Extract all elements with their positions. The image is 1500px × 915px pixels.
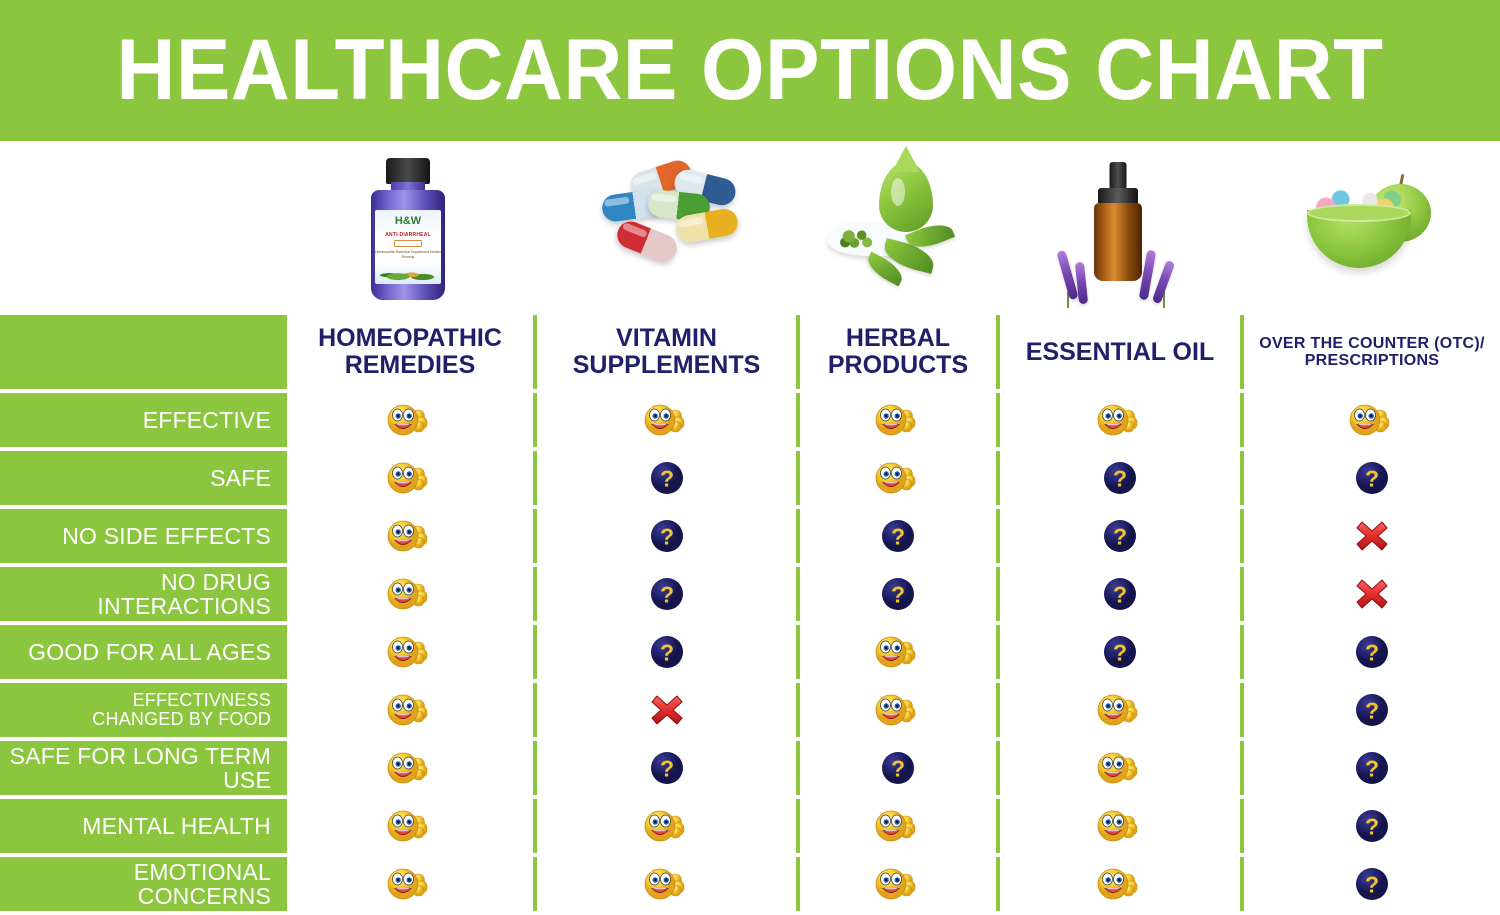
cell-over-the-counter-otc-prescriptions-question-mark[interactable]: ?	[1240, 799, 1500, 853]
svg-text:?: ?	[1365, 698, 1379, 724]
header-line-2: SUPPLEMENTS	[573, 352, 761, 379]
cell-homeopathic-remedies-smiley-thumbs-up[interactable]	[283, 567, 533, 621]
row-label-line-1: SAFE	[210, 466, 271, 490]
row-label-effectivness-changed-by-food[interactable]: EFFECTIVNESSCHANGED BY FOOD	[0, 683, 283, 737]
row-label-text: GOOD FOR ALL AGES	[28, 640, 271, 664]
row-cells: ? ? ?	[283, 741, 1500, 795]
smiley-thumbs-up-icon	[874, 809, 922, 843]
question-mark-icon: ?	[650, 635, 684, 669]
row-cells: ? ? ?	[283, 509, 1500, 563]
red-x-icon	[650, 694, 684, 726]
cell-vitamin-supplements-question-mark[interactable]: ?	[533, 509, 796, 563]
smiley-thumbs-up-icon	[874, 693, 922, 727]
svg-text:?: ?	[659, 582, 673, 608]
cell-homeopathic-remedies-smiley-thumbs-up[interactable]	[283, 741, 533, 795]
question-mark-icon: ?	[650, 461, 684, 495]
smiley-thumbs-up-icon	[1096, 867, 1144, 901]
svg-text:?: ?	[659, 640, 673, 666]
row-label-emotional-concerns[interactable]: EMOTIONAL CONCERNS	[0, 857, 283, 911]
question-mark-icon: ?	[650, 751, 684, 785]
bottle-label: H&W ANTI-DIARRHEAL Homeopathic Botanical…	[375, 210, 441, 284]
row-label-line-1: GOOD FOR ALL AGES	[28, 640, 271, 664]
question-mark-icon: ?	[881, 519, 915, 553]
cell-essential-oil-smiley-thumbs-up[interactable]	[996, 799, 1240, 853]
cell-vitamin-supplements-question-mark[interactable]: ?	[533, 741, 796, 795]
row-label-mental-health[interactable]: MENTAL HEALTH	[0, 799, 283, 853]
column-header-otc[interactable]: OVER THE COUNTER (OTC)/ PRESCRIPTIONS	[1240, 315, 1500, 389]
bottle-cap-icon	[386, 158, 430, 184]
cell-homeopathic-remedies-smiley-thumbs-up[interactable]	[283, 683, 533, 737]
svg-text:?: ?	[891, 524, 905, 550]
row-label-text: EFFECTIVNESSCHANGED BY FOOD	[92, 691, 271, 729]
cell-vitamin-supplements-red-x[interactable]	[533, 683, 796, 737]
question-mark-icon: ?	[1355, 635, 1389, 669]
cell-vitamin-supplements-question-mark[interactable]: ?	[533, 567, 796, 621]
cell-over-the-counter-otc-prescriptions-question-mark[interactable]: ?	[1240, 451, 1500, 505]
table-row: EFFECTIVNESSCHANGED BY FOOD	[0, 683, 1500, 737]
header-line-1: HERBAL	[828, 325, 968, 352]
row-cells: ?	[283, 683, 1500, 737]
product-image-herbal	[796, 141, 996, 315]
row-label-text: SAFE FOR LONG TERM USE	[0, 744, 271, 793]
cell-homeopathic-remedies-smiley-thumbs-up[interactable]	[283, 509, 533, 563]
bottle-herb-graphic-icon	[375, 264, 441, 282]
cell-vitamin-supplements-question-mark[interactable]: ?	[533, 625, 796, 679]
amber-bottle-icon	[1094, 203, 1142, 281]
cell-essential-oil-question-mark[interactable]: ?	[996, 567, 1240, 621]
smiley-thumbs-up-icon	[874, 867, 922, 901]
cell-homeopathic-remedies-smiley-thumbs-up[interactable]	[283, 799, 533, 853]
cell-herbal-products-smiley-thumbs-up[interactable]	[796, 625, 996, 679]
row-label-line-1: NO SIDE EFFECTS	[62, 524, 271, 548]
smiley-thumbs-up-icon	[874, 461, 922, 495]
question-mark-icon: ?	[1355, 867, 1389, 901]
page-title: HEALTHCARE OPTIONS CHART	[116, 21, 1383, 120]
product-image-essential-oil	[996, 141, 1240, 315]
cell-essential-oil-smiley-thumbs-up[interactable]	[996, 741, 1240, 795]
svg-text:?: ?	[1365, 466, 1379, 492]
capsule-group-icon	[590, 148, 740, 308]
cell-vitamin-supplements-smiley-thumbs-up[interactable]	[533, 393, 796, 447]
cell-over-the-counter-otc-prescriptions-red-x[interactable]	[1240, 509, 1500, 563]
svg-text:?: ?	[1113, 582, 1127, 608]
row-label-effective[interactable]: EFFECTIVE	[0, 393, 283, 447]
column-header-homeopathic[interactable]: HOMEOPATHIC REMEDIES	[283, 315, 533, 389]
cell-essential-oil-smiley-thumbs-up[interactable]	[996, 857, 1240, 911]
cell-essential-oil-question-mark[interactable]: ?	[996, 625, 1240, 679]
row-label-text: MENTAL HEALTH	[82, 814, 271, 838]
cell-herbal-products-question-mark[interactable]: ?	[796, 509, 996, 563]
cell-over-the-counter-otc-prescriptions-question-mark[interactable]: ?	[1240, 857, 1500, 911]
bowl-rim-icon	[1307, 204, 1411, 222]
cell-essential-oil-question-mark[interactable]: ?	[996, 509, 1240, 563]
capsule-red-icon	[613, 217, 681, 265]
row-cells	[283, 393, 1500, 447]
cell-vitamin-supplements-smiley-thumbs-up[interactable]	[533, 857, 796, 911]
row-label-line-1: EFFECTIVNESS	[92, 691, 271, 710]
table-row: EMOTIONAL CONCERNS	[0, 857, 1500, 911]
question-mark-icon: ?	[1355, 461, 1389, 495]
row-label-no-drug-interactions[interactable]: NO DRUG INTERACTIONS	[0, 567, 283, 621]
cell-herbal-products-smiley-thumbs-up[interactable]	[796, 857, 996, 911]
tea-leaves-icon	[835, 228, 881, 252]
column-header-label: HERBAL PRODUCTS	[828, 325, 968, 379]
cell-homeopathic-remedies-smiley-thumbs-up[interactable]	[283, 451, 533, 505]
svg-text:?: ?	[659, 466, 673, 492]
cell-over-the-counter-otc-prescriptions-question-mark[interactable]: ?	[1240, 683, 1500, 737]
column-header-label: ESSENTIAL OIL	[1026, 339, 1214, 366]
cell-homeopathic-remedies-smiley-thumbs-up[interactable]	[283, 857, 533, 911]
title-banner: HEALTHCARE OPTIONS CHART	[0, 0, 1500, 141]
cell-vitamin-supplements-smiley-thumbs-up[interactable]	[533, 799, 796, 853]
smiley-thumbs-up-icon	[386, 867, 434, 901]
column-header-vitamin[interactable]: VITAMIN SUPPLEMENTS	[533, 315, 796, 389]
cell-herbal-products-question-mark[interactable]: ?	[796, 567, 996, 621]
smiley-thumbs-up-icon	[643, 867, 691, 901]
question-mark-icon: ?	[1103, 519, 1137, 553]
product-image-otc	[1240, 141, 1500, 315]
cell-homeopathic-remedies-smiley-thumbs-up[interactable]	[283, 393, 533, 447]
row-label-text: EFFECTIVE	[143, 408, 271, 432]
product-image-vitamin	[533, 141, 796, 315]
row-label-good-for-all-ages[interactable]: GOOD FOR ALL AGES	[0, 625, 283, 679]
header-line-1: VITAMIN	[573, 325, 761, 352]
cell-over-the-counter-otc-prescriptions-question-mark[interactable]: ?	[1240, 625, 1500, 679]
question-mark-icon: ?	[881, 577, 915, 611]
healthcare-options-chart-page: HEALTHCARE OPTIONS CHART H&W ANTI-DIARRH…	[0, 0, 1500, 879]
svg-text:?: ?	[659, 524, 673, 550]
smiley-thumbs-up-icon	[386, 519, 434, 553]
smiley-thumbs-up-icon	[386, 693, 434, 727]
row-label-text: SAFE	[210, 466, 271, 490]
cell-herbal-products-smiley-thumbs-up[interactable]	[796, 683, 996, 737]
bottle-label-box-icon	[394, 240, 422, 247]
product-image-homeopathic: H&W ANTI-DIARRHEAL Homeopathic Botanical…	[283, 141, 533, 315]
table-row: NO SIDE EFFECTS ? ? ?	[0, 509, 1500, 563]
row-cells: ? ? ?	[283, 567, 1500, 621]
row-label-line-1: EMOTIONAL CONCERNS	[0, 860, 271, 909]
header-cells: HOMEOPATHIC REMEDIES VITAMIN SUPPLEMENTS…	[283, 315, 1500, 389]
bottle-logo-text: H&W	[375, 216, 441, 227]
row-label-text: NO SIDE EFFECTS	[62, 524, 271, 548]
green-droplet-icon	[879, 162, 933, 232]
smiley-thumbs-up-icon	[874, 403, 922, 437]
column-header-label: OVER THE COUNTER (OTC)/ PRESCRIPTIONS	[1259, 335, 1485, 370]
smiley-thumbs-up-icon	[1096, 403, 1144, 437]
question-mark-icon: ?	[650, 577, 684, 611]
row-label-text: NO DRUG INTERACTIONS	[0, 570, 271, 619]
table-header-row: HOMEOPATHIC REMEDIES VITAMIN SUPPLEMENTS…	[0, 315, 1500, 389]
table-body: EFFECTIVE	[0, 393, 1500, 911]
vitamin-capsules-art	[590, 148, 740, 308]
red-x-icon	[1355, 578, 1389, 610]
svg-text:?: ?	[1113, 524, 1127, 550]
column-header-essential-oil[interactable]: ESSENTIAL OIL	[996, 315, 1240, 389]
svg-text:?: ?	[1365, 640, 1379, 666]
cell-herbal-products-smiley-thumbs-up[interactable]	[796, 393, 996, 447]
row-cells: ?	[283, 857, 1500, 911]
svg-text:?: ?	[1113, 640, 1127, 666]
red-x-icon	[1355, 520, 1389, 552]
header-line-1: HOMEOPATHIC	[318, 325, 502, 352]
table-row: EFFECTIVE	[0, 393, 1500, 447]
cell-herbal-products-smiley-thumbs-up[interactable]	[796, 451, 996, 505]
smiley-thumbs-up-icon	[1096, 809, 1144, 843]
svg-text:?: ?	[891, 582, 905, 608]
column-header-label: VITAMIN SUPPLEMENTS	[573, 325, 761, 379]
row-cells: ? ? ?	[283, 451, 1500, 505]
cell-over-the-counter-otc-prescriptions-red-x[interactable]	[1240, 567, 1500, 621]
header-line-2: PRESCRIPTIONS	[1259, 352, 1485, 369]
row-label-line-1: MENTAL HEALTH	[82, 814, 271, 838]
svg-text:?: ?	[1365, 872, 1379, 898]
smiley-thumbs-up-icon	[386, 403, 434, 437]
cell-herbal-products-question-mark[interactable]: ?	[796, 741, 996, 795]
row-cells: ? ? ?	[283, 625, 1500, 679]
smiley-thumbs-up-icon	[386, 461, 434, 495]
row-label-safe-for-long-term-use[interactable]: SAFE FOR LONG TERM USE	[0, 741, 283, 795]
dropper-cap-icon	[1110, 162, 1127, 190]
svg-text:?: ?	[1365, 756, 1379, 782]
row-label-line-2: CHANGED BY FOOD	[92, 710, 271, 729]
column-header-herbal[interactable]: HERBAL PRODUCTS	[796, 315, 996, 389]
smiley-thumbs-up-icon	[386, 751, 434, 785]
table-row: SAFE FOR LONG TERM USE ? ?	[0, 741, 1500, 795]
smiley-thumbs-up-icon	[1096, 693, 1144, 727]
header-line-2: REMEDIES	[318, 352, 502, 379]
svg-text:?: ?	[891, 756, 905, 782]
smiley-thumbs-up-icon	[386, 635, 434, 669]
cell-vitamin-supplements-question-mark[interactable]: ?	[533, 451, 796, 505]
question-mark-icon: ?	[1355, 693, 1389, 727]
header-line-1: OVER THE COUNTER (OTC)/	[1259, 335, 1485, 352]
smiley-thumbs-up-icon	[386, 577, 434, 611]
herbal-art	[821, 148, 971, 308]
smiley-thumbs-up-icon	[643, 403, 691, 437]
row-label-safe[interactable]: SAFE	[0, 451, 283, 505]
cell-over-the-counter-otc-prescriptions-question-mark[interactable]: ?	[1240, 741, 1500, 795]
question-mark-icon: ?	[881, 751, 915, 785]
cell-homeopathic-remedies-smiley-thumbs-up[interactable]	[283, 625, 533, 679]
column-header-label: HOMEOPATHIC REMEDIES	[318, 325, 502, 379]
question-mark-icon: ?	[1103, 461, 1137, 495]
row-label-line-1: SAFE FOR LONG TERM USE	[0, 744, 271, 793]
row-cells: ?	[283, 799, 1500, 853]
smiley-thumbs-up-icon	[1348, 403, 1396, 437]
question-mark-icon: ?	[1355, 751, 1389, 785]
lavender-icon-2	[1075, 262, 1088, 305]
question-mark-icon: ?	[1103, 635, 1137, 669]
smiley-thumbs-up-icon	[386, 809, 434, 843]
comparison-table: HOMEOPATHIC REMEDIES VITAMIN SUPPLEMENTS…	[0, 315, 1500, 915]
cell-essential-oil-question-mark[interactable]: ?	[996, 451, 1240, 505]
bottle-label-line1: ANTI-DIARRHEAL	[375, 232, 441, 238]
table-row: SAFE ?	[0, 451, 1500, 505]
cell-over-the-counter-otc-prescriptions-smiley-thumbs-up[interactable]	[1240, 393, 1500, 447]
product-image-strip: H&W ANTI-DIARRHEAL Homeopathic Botanical…	[0, 141, 1500, 315]
smiley-thumbs-up-icon	[1096, 751, 1144, 785]
homeopathic-bottle-art: H&W ANTI-DIARRHEAL Homeopathic Botanical…	[333, 148, 483, 308]
header-line-2: PRODUCTS	[828, 352, 968, 379]
cell-essential-oil-smiley-thumbs-up[interactable]	[996, 683, 1240, 737]
table-corner-cell	[0, 315, 283, 389]
table-row: GOOD FOR ALL AGES ?	[0, 625, 1500, 679]
svg-text:?: ?	[1365, 814, 1379, 840]
bottle-label-line3: Homeopathic Botanical Supplement Holisti…	[375, 250, 441, 260]
table-row: NO DRUG INTERACTIONS ? ? ?	[0, 567, 1500, 621]
svg-text:?: ?	[1113, 466, 1127, 492]
row-label-text: EMOTIONAL CONCERNS	[0, 860, 271, 909]
otc-art	[1295, 148, 1445, 308]
row-label-no-side-effects[interactable]: NO SIDE EFFECTS	[0, 509, 283, 563]
smiley-thumbs-up-icon	[874, 635, 922, 669]
smiley-thumbs-up-icon	[643, 809, 691, 843]
question-mark-icon: ?	[1355, 809, 1389, 843]
cell-essential-oil-smiley-thumbs-up[interactable]	[996, 393, 1240, 447]
essential-oil-art	[1043, 148, 1193, 308]
row-label-line-1: EFFECTIVE	[143, 408, 271, 432]
question-mark-icon: ?	[1103, 577, 1137, 611]
table-row: MENTAL HEALTH	[0, 799, 1500, 853]
row-label-line-1: NO DRUG INTERACTIONS	[0, 570, 271, 619]
cell-herbal-products-smiley-thumbs-up[interactable]	[796, 799, 996, 853]
header-line-1: ESSENTIAL OIL	[1026, 339, 1214, 366]
question-mark-icon: ?	[650, 519, 684, 553]
svg-text:?: ?	[659, 756, 673, 782]
